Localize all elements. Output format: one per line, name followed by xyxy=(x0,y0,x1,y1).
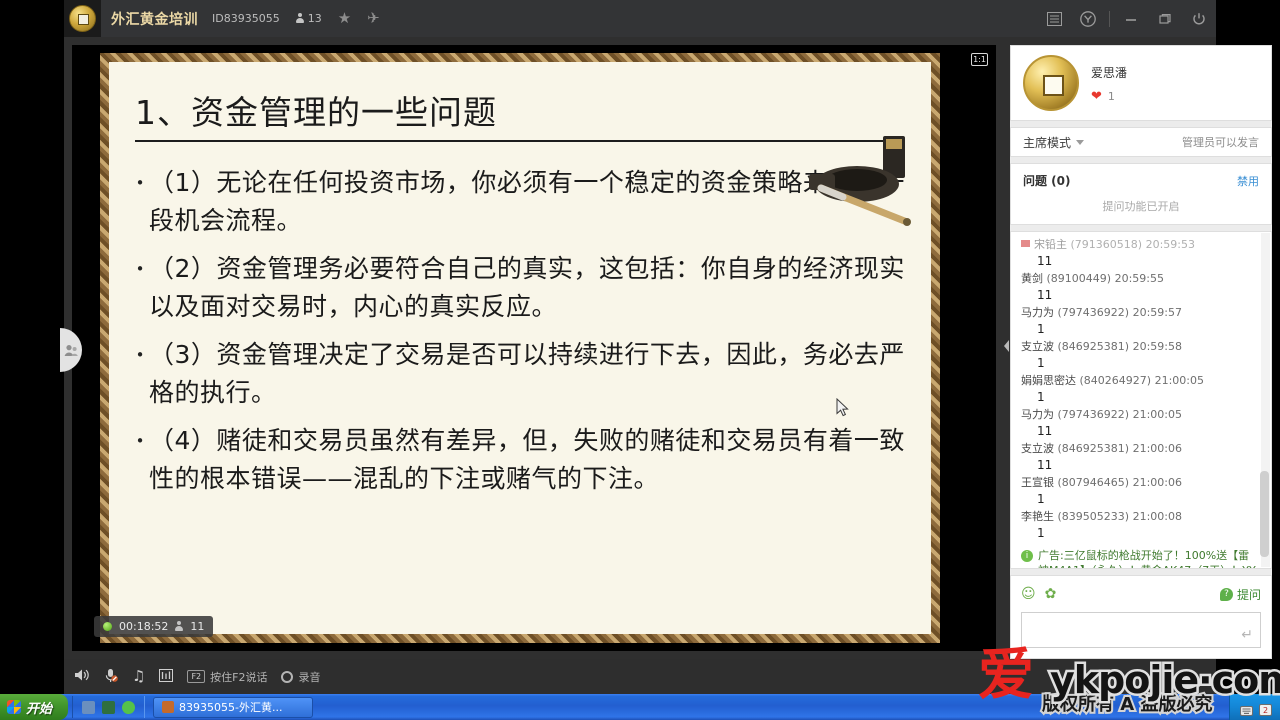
application-window: 外汇黄金培训 ID83935055 13 ★ ✈ xyxy=(64,0,1216,694)
opera-icon[interactable] xyxy=(122,701,135,714)
video-stage[interactable]: 1:1 1、资金管理的一些问题 • （1）无论在任何投资市场，你必须有一个稳定的… xyxy=(72,45,996,651)
live-dot-icon xyxy=(103,622,112,631)
browser-icon[interactable] xyxy=(102,701,115,714)
room-id-label: ID xyxy=(212,12,224,25)
titlebar-divider xyxy=(1109,11,1110,27)
questions-status: 提问功能已开启 xyxy=(1023,198,1259,214)
person-icon xyxy=(296,13,304,24)
panel-collapse-arrow-icon[interactable] xyxy=(1002,338,1011,354)
slide-bullet: • （3）资金管理决定了交易是否可以持续进行下去，因此，务必去严格的执行。 xyxy=(131,336,909,412)
audio-toolbar: ♫ F2 按住F2说话 录音 xyxy=(64,659,1216,694)
person-icon xyxy=(175,621,183,632)
app-logo xyxy=(64,0,101,37)
chat-message-text: 1 xyxy=(1021,491,1261,508)
chat-timestamp: 20:59:53 xyxy=(1146,238,1195,251)
questions-card: 问题 (0) 禁用 提问功能已开启 xyxy=(1010,163,1272,225)
heart-icon: ❤ xyxy=(1091,90,1102,103)
chat-message-header: 黄剑 (89100449) 20:59:55 xyxy=(1021,270,1261,287)
chat-nickname[interactable]: 马力为 xyxy=(1021,408,1058,421)
airplane-icon[interactable]: ✈ xyxy=(367,11,380,26)
chat-timestamp: 21:00:06 xyxy=(1133,476,1182,489)
chat-user-id: (846925381) xyxy=(1058,340,1133,353)
stream-timer: 00:18:52 xyxy=(119,620,168,633)
emoji-icon[interactable]: ☺ xyxy=(1021,587,1036,601)
slide-bullet: • （1）无论在任何投资市场，你必须有一个稳定的资金策略来完成一段机会流程。 xyxy=(131,164,909,240)
questions-header: 问题 (0) 禁用 xyxy=(1023,172,1259,189)
chat-nickname[interactable]: 娟娟思密达 xyxy=(1021,374,1080,387)
advertisement-text: 广告:三亿鼠标的枪战开始了！100%送【雷神M4A1】（永久）！黄金AK47（7… xyxy=(1038,548,1259,569)
mic-muted-icon[interactable] xyxy=(104,668,118,686)
chat-message-text: 11 xyxy=(1021,423,1261,440)
chat-message-text: 1 xyxy=(1021,355,1261,372)
chevron-down-icon xyxy=(1076,140,1084,145)
viewer-count: 13 xyxy=(296,12,322,25)
record-label: 录音 xyxy=(298,669,320,685)
f2-key-icon: F2 xyxy=(187,670,205,683)
home-icon[interactable] xyxy=(1071,0,1105,37)
mode-label: 主席模式 xyxy=(1023,134,1071,151)
bullet-text: （3）资金管理决定了交易是否可以持续进行下去，因此，务必去严格的执行。 xyxy=(149,336,909,412)
chat-nickname[interactable]: 支立波 xyxy=(1021,340,1058,353)
bullet-marker: • xyxy=(131,164,149,240)
flag-icon xyxy=(1021,240,1030,247)
like-count-value: 1 xyxy=(1108,90,1115,103)
stream-audience-count: 11 xyxy=(190,620,204,633)
windows-flag-icon xyxy=(7,700,21,714)
list-icon[interactable] xyxy=(1037,0,1071,37)
chat-input-field[interactable]: ↵ xyxy=(1021,612,1261,648)
enter-key-icon: ↵ xyxy=(1241,627,1253,643)
restore-button[interactable] xyxy=(1148,0,1182,37)
chat-user-id: (840264927) xyxy=(1080,374,1155,387)
ime-icon[interactable]: 2 xyxy=(1259,701,1272,713)
flower-icon[interactable]: ✿ xyxy=(1045,587,1057,601)
host-info: 爱思潘 ❤ 1 xyxy=(1091,64,1127,103)
slide-content: 1、资金管理的一些问题 • （1）无论在任何投资市场，你必须有一个稳定的资金策略… xyxy=(109,62,931,634)
aspect-ratio-button[interactable]: 1:1 xyxy=(971,53,988,66)
chat-nickname[interactable]: 马力为 xyxy=(1021,306,1058,319)
bullet-marker: • xyxy=(131,250,149,326)
chat-timestamp: 20:59:55 xyxy=(1115,272,1164,285)
chat-message-header: 支立波 (846925381) 21:00:06 xyxy=(1021,440,1261,457)
stream-status-badge: 00:18:52 11 xyxy=(94,616,213,637)
chat-timestamp: 21:00:06 xyxy=(1133,442,1182,455)
chat-scrollbar-track[interactable] xyxy=(1261,233,1270,567)
chat-message-text: 11 xyxy=(1021,253,1261,270)
chat-timestamp: 21:00:05 xyxy=(1133,408,1182,421)
task-title: 83935055-外汇黄... xyxy=(179,699,282,715)
chat-user-id: (797436922) xyxy=(1058,306,1133,319)
chat-message-header: 马力为 (797436922) 21:00:05 xyxy=(1021,406,1261,423)
bullet-text: （2）资金管理务必要符合自己的真实，这包括：你自身的经济现实以及面对交易时，内心… xyxy=(149,250,909,326)
chat-message-header: 马力为 (797436922) 20:59:57 xyxy=(1021,304,1261,321)
question-mark-icon: ? xyxy=(1220,588,1233,601)
screen-root: 外汇黄金培训 ID83935055 13 ★ ✈ xyxy=(0,0,1280,720)
music-icon[interactable]: ♫ xyxy=(132,669,145,684)
host-like-count[interactable]: ❤ 1 xyxy=(1091,90,1127,103)
chat-timestamp: 20:59:58 xyxy=(1133,340,1182,353)
host-name: 爱思潘 xyxy=(1091,64,1127,81)
taskbar-task-button[interactable]: 83935055-外汇黄... xyxy=(153,697,313,718)
chat-user-id: (807946465) xyxy=(1058,476,1133,489)
chat-nickname[interactable]: 李艳生 xyxy=(1021,510,1058,523)
power-button[interactable] xyxy=(1182,0,1216,37)
chat-nickname[interactable]: 王宣银 xyxy=(1021,476,1058,489)
chat-messages-container: 宋铅主 (791360518) 20:59:5311黄剑 (89100449) … xyxy=(1021,236,1261,542)
host-card: 爱思潘 ❤ 1 xyxy=(1010,45,1272,121)
chat-timestamp: 21:00:05 xyxy=(1155,374,1204,387)
coin-logo-icon xyxy=(69,5,96,32)
ask-question-button[interactable]: ? 提问 xyxy=(1220,586,1261,603)
chat-user-id: (797436922) xyxy=(1058,408,1133,421)
mode-note: 管理员可以发言 xyxy=(1182,134,1259,150)
mode-dropdown[interactable]: 主席模式 xyxy=(1023,134,1084,151)
chat-input-toolbar: ☺ ✿ ? 提问 xyxy=(1021,584,1261,604)
svg-text:2: 2 xyxy=(1263,706,1268,715)
chat-input-card: ☺ ✿ ? 提问 ↵ xyxy=(1010,575,1272,659)
room-id: ID83935055 xyxy=(212,12,280,25)
bullet-marker: • xyxy=(131,336,149,412)
chat-user-id: (846925381) xyxy=(1058,442,1133,455)
bullet-text: （4）赌徒和交易员虽然有差异，但，失败的赌徒和交易员有着一致性的根本错误——混乱… xyxy=(149,422,909,498)
chat-message-header: 支立波 (846925381) 20:59:58 xyxy=(1021,338,1261,355)
chat-message-list[interactable]: 宋铅主 (791360518) 20:59:5311黄剑 (89100449) … xyxy=(1010,231,1272,569)
ask-question-label: 提问 xyxy=(1237,586,1261,603)
chat-message-header: 宋铅主 (791360518) 20:59:53 xyxy=(1021,236,1261,253)
room-title: 外汇黄金培训 xyxy=(111,9,198,29)
bullet-text: （1）无论在任何投资市场，你必须有一个稳定的资金策略来完成一段机会流程。 xyxy=(149,164,909,240)
windows-taskbar: 开始 83935055-外汇黄... 2 xyxy=(0,694,1280,720)
system-tray: 2 xyxy=(1229,694,1280,720)
record-icon xyxy=(281,671,293,683)
chat-message-text: 11 xyxy=(1021,457,1261,474)
slide-bullet: • （4）赌徒和交易员虽然有差异，但，失败的赌徒和交易员有着一致性的根本错误——… xyxy=(131,422,909,498)
chat-user-id: (839505233) xyxy=(1058,510,1133,523)
advertisement-row[interactable]: i 广告:三亿鼠标的枪战开始了！100%送【雷神M4A1】（永久）！黄金AK47… xyxy=(1021,548,1261,569)
chat-nickname[interactable]: 宋铅主 xyxy=(1034,238,1071,251)
room-id-value: 83935055 xyxy=(224,12,280,25)
star-icon[interactable]: ★ xyxy=(338,11,351,26)
speaker-icon[interactable] xyxy=(74,668,90,685)
questions-title: 问题 (0) xyxy=(1023,172,1071,189)
start-button[interactable]: 开始 xyxy=(0,694,68,720)
chat-nickname[interactable]: 支立波 xyxy=(1021,442,1058,455)
slide-bullet: • （2）资金管理务必要符合自己的真实，这包括：你自身的经济现实以及面对交易时，… xyxy=(131,250,909,326)
keyboard-icon[interactable] xyxy=(1240,701,1253,713)
push-to-talk-control[interactable]: F2 按住F2说话 xyxy=(187,669,267,685)
right-side-panel: 爱思潘 ❤ 1 主席模式 管理员可以发言 问题 (0) 禁用 xyxy=(1010,45,1272,651)
equalizer-icon[interactable] xyxy=(159,669,173,685)
chat-message-text: 11 xyxy=(1021,287,1261,304)
mode-selector-card: 主席模式 管理员可以发言 xyxy=(1010,127,1272,157)
chat-user-id: (791360518) xyxy=(1071,238,1146,251)
info-icon: i xyxy=(1021,550,1033,562)
viewer-count-value: 13 xyxy=(308,12,322,25)
chat-user-id: (89100449) xyxy=(1047,272,1115,285)
media-icon[interactable] xyxy=(82,701,95,714)
chat-timestamp: 20:59:57 xyxy=(1133,306,1182,319)
chat-message-text: 1 xyxy=(1021,321,1261,338)
presentation-slide: 1、资金管理的一些问题 • （1）无论在任何投资市场，你必须有一个稳定的资金策略… xyxy=(100,53,940,643)
questions-disable-link[interactable]: 禁用 xyxy=(1237,173,1259,189)
avatar[interactable] xyxy=(1023,55,1079,111)
slide-title: 1、资金管理的一些问题 xyxy=(135,86,909,134)
slide-title-rule xyxy=(135,140,905,142)
chat-message-header: 娟娟思密达 (840264927) 21:00:05 xyxy=(1021,372,1261,389)
chat-message-text: 1 xyxy=(1021,525,1261,542)
chat-timestamp: 21:00:08 xyxy=(1133,510,1182,523)
record-button[interactable]: 录音 xyxy=(281,669,320,685)
task-app-icon xyxy=(162,701,174,713)
bullet-marker: • xyxy=(131,422,149,498)
start-label: 开始 xyxy=(26,698,52,717)
quick-launch-bar xyxy=(72,696,145,718)
push-to-talk-label: 按住F2说话 xyxy=(210,669,267,685)
chat-scrollbar-thumb[interactable] xyxy=(1260,471,1269,557)
chat-message-header: 王宣银 (807946465) 21:00:06 xyxy=(1021,474,1261,491)
chat-message-text: 1 xyxy=(1021,389,1261,406)
chat-message-header: 李艳生 (839505233) 21:00:08 xyxy=(1021,508,1261,525)
title-bar: 外汇黄金培训 ID83935055 13 ★ ✈ xyxy=(64,0,1216,37)
minimize-button[interactable] xyxy=(1114,0,1148,37)
chat-nickname[interactable]: 黄剑 xyxy=(1021,272,1047,285)
